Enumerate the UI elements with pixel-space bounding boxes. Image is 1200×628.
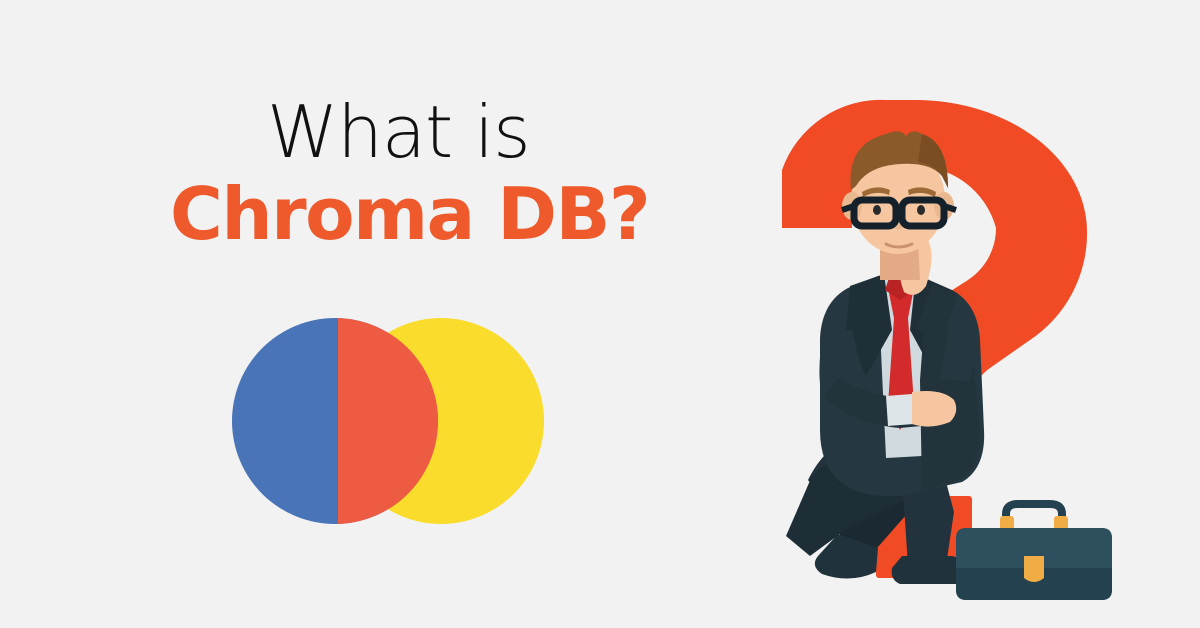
page-title-line-1: What is: [267, 94, 530, 170]
eye-left: [873, 205, 881, 215]
shirt-cuff: [886, 394, 914, 426]
poster-canvas: What is Chroma DB?: [0, 0, 1200, 628]
chroma-db-logo: [232, 318, 544, 524]
illustration-thinking-businessman: [700, 0, 1200, 628]
briefcase-icon: [956, 504, 1112, 600]
briefcase-handle: [1006, 504, 1062, 522]
eye-right: [917, 205, 925, 215]
briefcase-clasp: [1024, 556, 1044, 582]
heading-block: What is Chroma DB?: [0, 0, 700, 300]
page-title-line-2: Chroma DB?: [170, 175, 649, 253]
